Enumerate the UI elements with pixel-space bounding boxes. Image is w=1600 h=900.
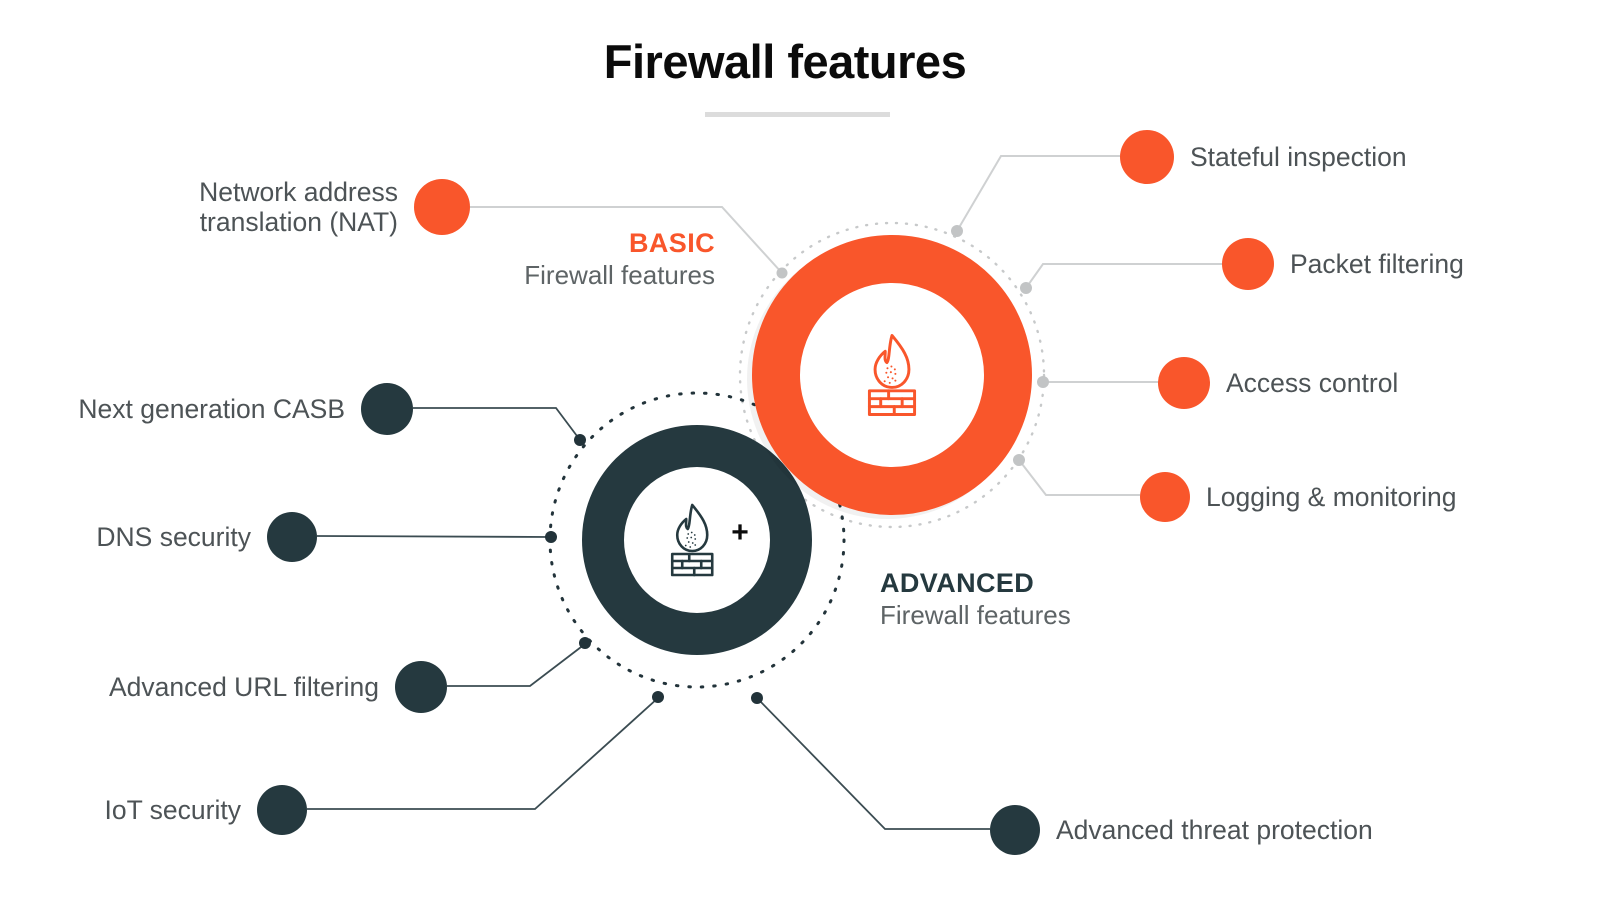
- feature-label: IoT security: [105, 795, 241, 825]
- feature-label: Next generation CASB: [78, 394, 345, 424]
- feature-node-next-generation-casb[interactable]: Next generation CASB: [20, 383, 413, 435]
- advanced-hub-circle[interactable]: +: [582, 425, 812, 655]
- feature-node-advanced-threat-protection[interactable]: Advanced threat protection: [990, 805, 1373, 855]
- feature-label-line2: translation (NAT): [199, 207, 398, 237]
- feature-bullet-orange[interactable]: [1222, 238, 1274, 290]
- feature-bullet-navy[interactable]: [267, 512, 317, 562]
- feature-label-line1: Network address: [199, 177, 398, 207]
- firewall-flame-brick-icon: [661, 502, 723, 578]
- basic-hub-caption: BASIC Firewall features: [423, 228, 715, 291]
- basic-subtitle: Firewall features: [423, 260, 715, 291]
- feature-bullet-navy[interactable]: [361, 383, 413, 435]
- advanced-kicker: ADVANCED: [880, 568, 1200, 600]
- advanced-subtitle: Firewall features: [880, 600, 1200, 631]
- flame-sparks: [685, 532, 696, 548]
- feature-node-logging-monitoring[interactable]: Logging & monitoring: [1140, 472, 1456, 522]
- feature-bullet-orange[interactable]: [1120, 130, 1174, 184]
- feature-bullet-orange[interactable]: [1140, 472, 1190, 522]
- feature-node-dns-security[interactable]: DNS security: [55, 512, 317, 562]
- feature-node-nat[interactable]: Network address translation (NAT): [100, 177, 470, 237]
- feature-label: Advanced threat protection: [1056, 815, 1373, 845]
- feature-label: Logging & monitoring: [1206, 482, 1456, 512]
- flame-sparks: [884, 366, 897, 384]
- feature-label: Advanced URL filtering: [109, 672, 379, 702]
- feature-label: Packet filtering: [1290, 249, 1464, 279]
- feature-node-iot-security[interactable]: IoT security: [70, 785, 307, 835]
- feature-node-stateful-inspection[interactable]: Stateful inspection: [1120, 130, 1407, 184]
- plus-icon: +: [731, 518, 749, 548]
- advanced-hub-caption: ADVANCED Firewall features: [880, 568, 1200, 631]
- feature-label: DNS security: [96, 522, 251, 552]
- feature-bullet-orange[interactable]: [414, 179, 470, 235]
- feature-bullet-navy[interactable]: [257, 785, 307, 835]
- feature-node-access-control[interactable]: Access control: [1158, 357, 1398, 409]
- feature-label: Network address translation (NAT): [199, 177, 398, 237]
- basic-hub-circle[interactable]: [752, 235, 1032, 515]
- feature-label: Stateful inspection: [1190, 142, 1407, 172]
- feature-bullet-navy[interactable]: [990, 805, 1040, 855]
- advanced-hub-icon-group: +: [661, 502, 749, 578]
- feature-label: Access control: [1226, 368, 1398, 398]
- infographic-canvas: Firewall features: [0, 0, 1600, 900]
- basic-hub-icon-group: [857, 332, 927, 418]
- basic-kicker: BASIC: [423, 228, 715, 260]
- firewall-flame-brick-icon: [857, 332, 927, 418]
- feature-bullet-navy[interactable]: [395, 661, 447, 713]
- feature-node-packet-filtering[interactable]: Packet filtering: [1222, 238, 1464, 290]
- feature-bullet-orange[interactable]: [1158, 357, 1210, 409]
- feature-node-advanced-url-filtering[interactable]: Advanced URL filtering: [35, 661, 447, 713]
